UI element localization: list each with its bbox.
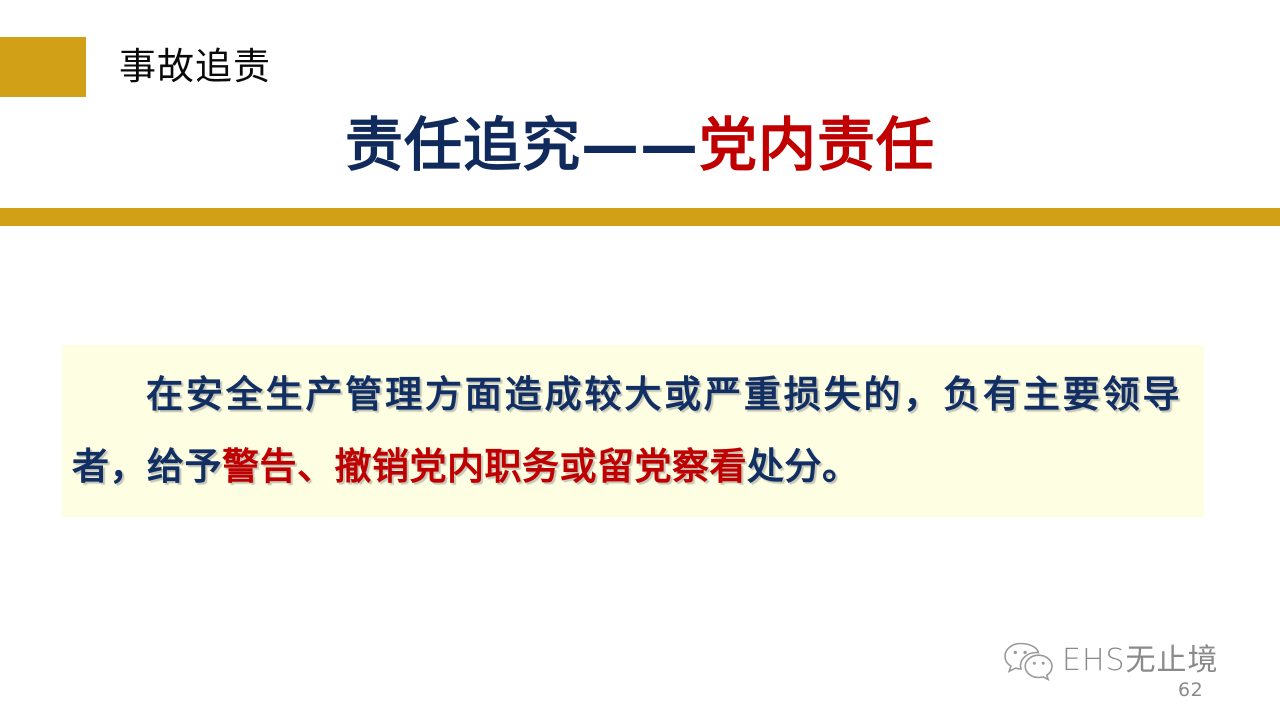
content-panel: 在安全生产管理方面造成较大或严重损失的，负有主要领导者，给予警告、撤销党内职务或… xyxy=(62,345,1204,517)
page-title: 责任追究——党内责任 xyxy=(0,106,1280,184)
body-segment-highlight: 警告、撤销党内职务或留党察看 xyxy=(222,445,747,488)
wechat-icon xyxy=(1000,639,1056,683)
header-kicker-text: 事故追责 xyxy=(119,41,271,93)
body-segment-tail: 处分。 xyxy=(747,445,860,488)
brand-lockup: EHS无止境 xyxy=(1000,639,1219,683)
page-number: 62 xyxy=(1178,678,1203,702)
slide-canvas: 事故追责 责任追究——党内责任 在安全生产管理方面造成较大或严重损失的，负有主要… xyxy=(0,0,1280,720)
gold-divider-bar xyxy=(0,208,1280,226)
brand-name-label: EHS无止境 xyxy=(1062,642,1219,680)
header-accent-swatch xyxy=(0,37,86,97)
page-title-primary: 责任追究—— xyxy=(345,111,699,179)
body-paragraph: 在安全生产管理方面造成较大或严重损失的，负有主要领导者，给予警告、撤销党内职务或… xyxy=(72,359,1180,503)
page-title-accent: 党内责任 xyxy=(699,111,935,179)
